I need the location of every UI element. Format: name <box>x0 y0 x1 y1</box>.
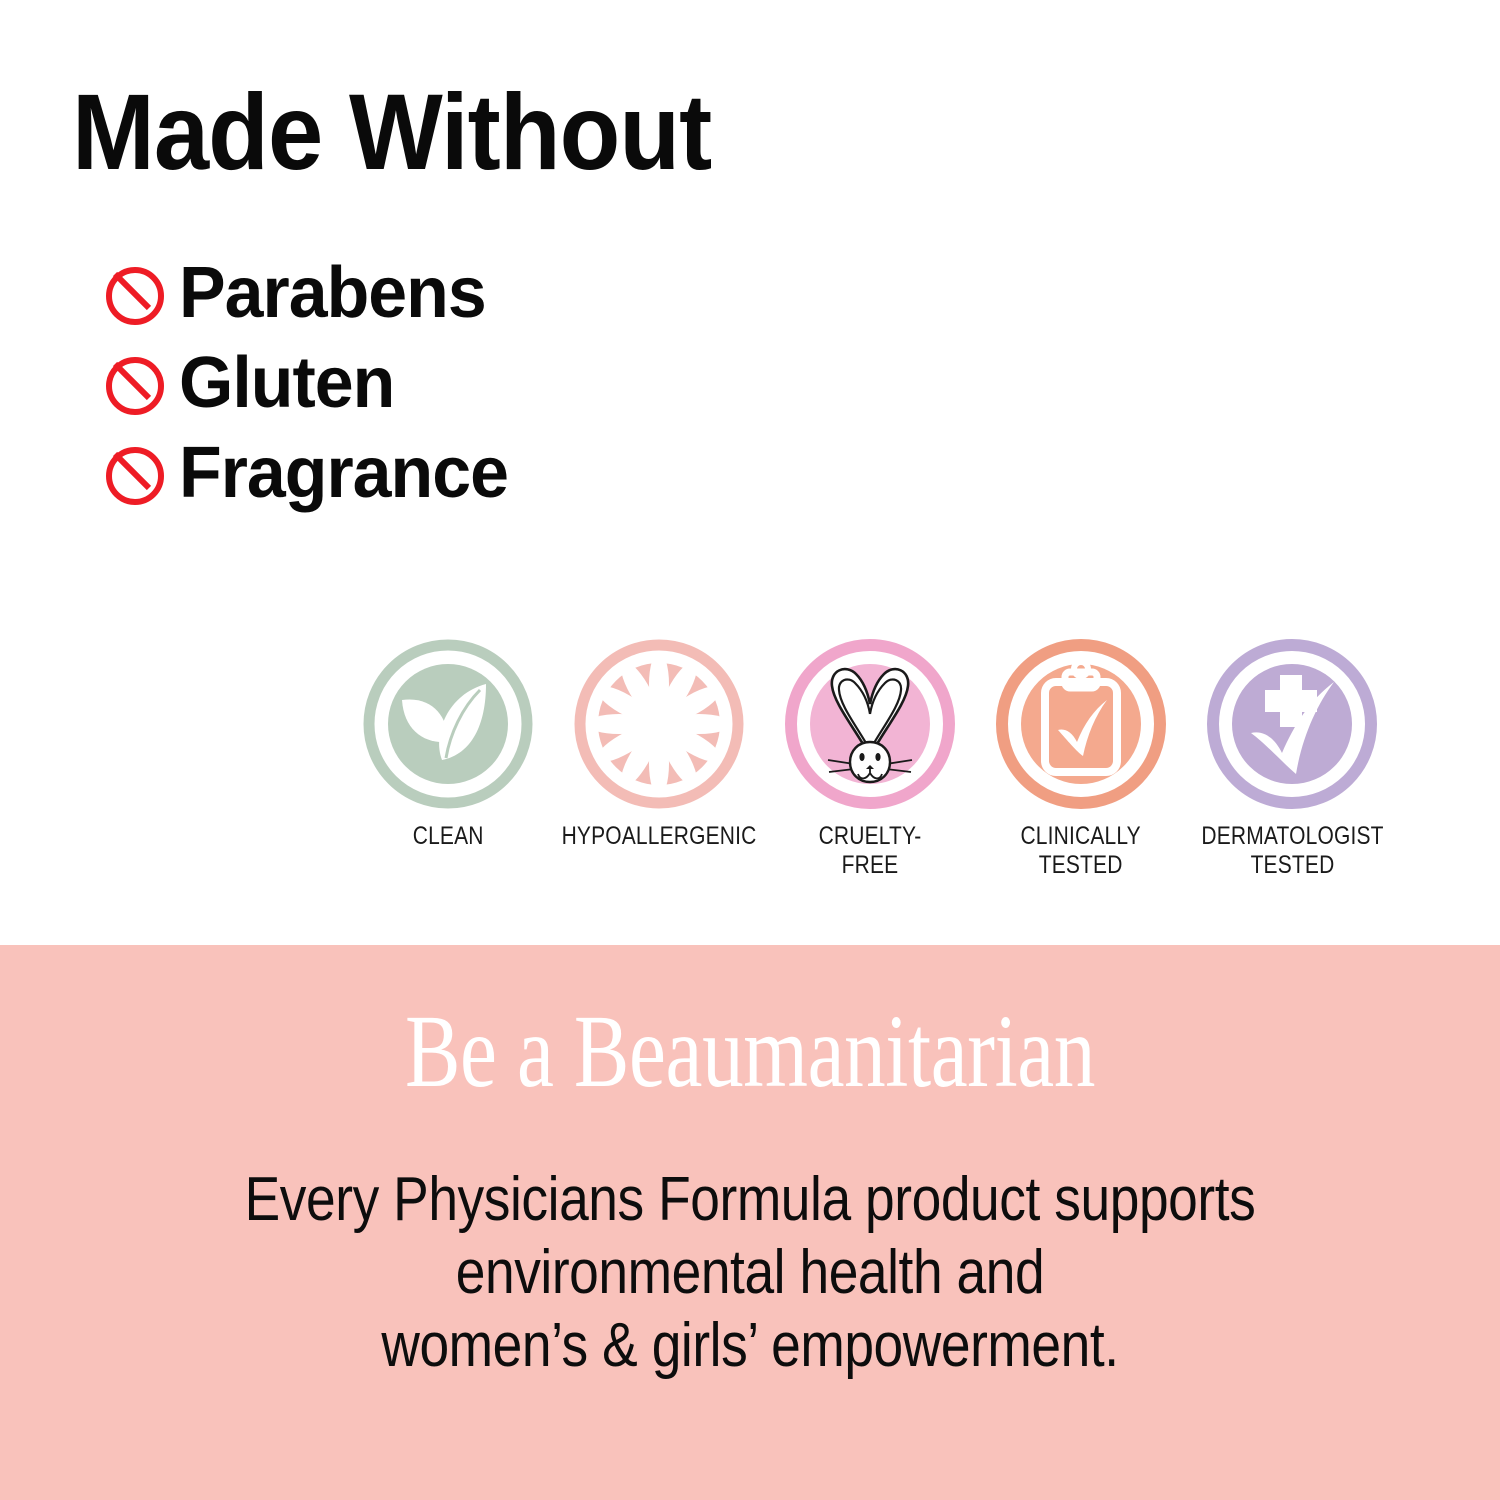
badge-clinically-tested: CLINICALLY TESTED <box>988 638 1174 881</box>
free-from-list: Parabens Gluten Fragrance <box>103 248 518 518</box>
list-item-parabens: Parabens <box>103 248 518 338</box>
bunny-heart-ears-icon <box>784 638 956 810</box>
section-body-text: Every Physicians Formula product support… <box>105 1163 1395 1382</box>
list-item-label: Fragrance <box>179 437 508 509</box>
daisy-flower-icon <box>573 638 745 810</box>
prohibition-icon <box>103 354 161 412</box>
badge-label: CLEAN <box>413 822 484 851</box>
badge-label: HYPOALLERGENIC <box>562 822 757 851</box>
prohibition-icon <box>103 264 161 322</box>
badge-label: CRUELTY-FREE <box>792 822 948 881</box>
made-without-section: Made Without Parabens Gluten <box>0 0 1500 945</box>
list-item-label: Parabens <box>179 257 486 329</box>
leaves-icon <box>362 638 534 810</box>
badge-hypoallergenic: HYPOALLERGENIC <box>566 638 752 851</box>
prohibition-icon <box>103 444 161 502</box>
badge-cruelty-free: CRUELTY-FREE <box>777 638 963 881</box>
list-item-fragrance: Fragrance <box>103 428 518 518</box>
certification-badges-row: CLEAN <box>355 638 1385 881</box>
badge-label: DERMATOLOGIST TESTED <box>1201 822 1383 881</box>
medical-cross-check-icon <box>1206 638 1378 810</box>
made-without-infographic: Made Without Parabens Gluten <box>0 0 1500 1500</box>
badge-clean: CLEAN <box>355 638 541 851</box>
list-item-label: Gluten <box>179 347 394 419</box>
list-item-gluten: Gluten <box>103 338 518 428</box>
page-title: Made Without <box>72 78 711 186</box>
section-heading: Be a Beaumanitarian <box>150 1000 1350 1104</box>
badge-label: CLINICALLY TESTED <box>1021 822 1141 881</box>
clipboard-check-icon <box>995 638 1167 810</box>
badge-dermatologist-tested: DERMATOLOGIST TESTED <box>1199 638 1385 881</box>
beaumanitarian-section: Be a Beaumanitarian Every Physicians For… <box>0 945 1500 1500</box>
